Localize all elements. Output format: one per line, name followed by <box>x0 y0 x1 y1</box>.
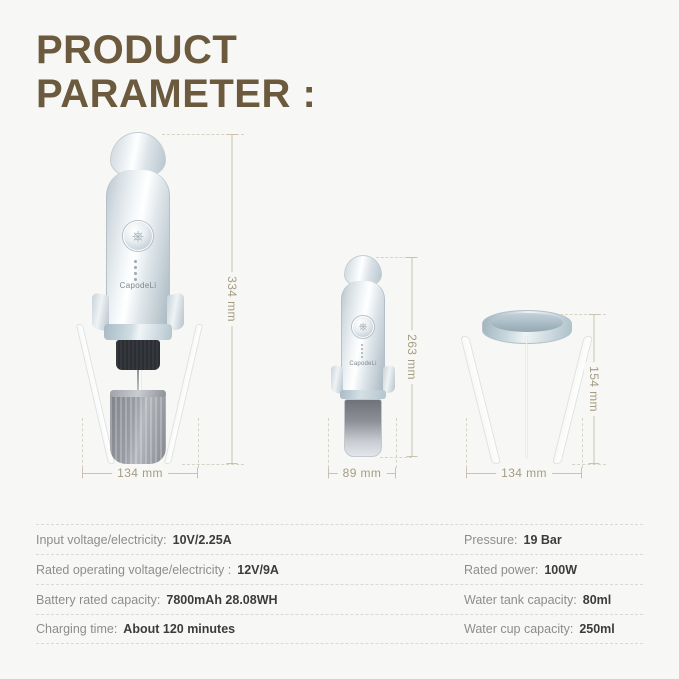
led-indicator-dots-compact <box>361 344 363 358</box>
spec-value: 100W <box>544 563 577 577</box>
page-title-line-2: PARAMETER : <box>36 72 536 116</box>
product-collar-compact <box>340 390 386 399</box>
spec-input-voltage: Input voltage/electricity: 10V/2.25A <box>36 533 464 547</box>
spec-label: Water cup capacity: <box>464 622 573 636</box>
extension-line-right-1 <box>198 418 199 468</box>
product-diagram-stage: ⎈ CapodeLi 334 mm 134 mm <box>0 118 679 498</box>
spec-label: Rated operating voltage/electricity : <box>36 563 231 577</box>
extension-line-left-1 <box>82 418 83 468</box>
stand-ring-inner <box>491 313 563 332</box>
product-collar <box>104 324 172 340</box>
table-row: Battery rated capacity: 7800mAh 28.08WH … <box>36 584 643 614</box>
dimension-height-334-label: 334 mm <box>222 272 242 326</box>
spec-charging-time: Charging time: About 120 minutes <box>36 622 464 636</box>
spec-label: Rated power: <box>464 563 538 577</box>
spec-rated-power: Rated power: 100W <box>464 563 643 577</box>
stand-leg-center-3 <box>525 336 528 458</box>
led-indicator-dots <box>134 260 137 281</box>
extension-line-right-2 <box>396 418 397 468</box>
extension-line-right-3 <box>582 418 583 468</box>
spec-value: 250ml <box>579 622 614 636</box>
dimension-width-134-a-label: 134 mm <box>112 466 168 480</box>
spec-value: 10V/2.25A <box>173 533 232 547</box>
table-row: Input voltage/electricity: 10V/2.25A Pre… <box>36 524 643 554</box>
extension-line-bottom-3 <box>572 464 606 465</box>
coffee-cup-rim <box>110 390 166 397</box>
spec-label: Charging time: <box>36 622 117 636</box>
dimension-width-89-label: 89 mm <box>338 466 387 480</box>
spec-label: Input voltage/electricity: <box>36 533 167 547</box>
power-icon: ⎈ <box>132 229 144 244</box>
spec-value: 80ml <box>583 593 612 607</box>
spec-value: 19 Bar <box>524 533 562 547</box>
extension-line-left-3 <box>466 418 467 468</box>
spec-value: About 120 minutes <box>123 622 235 636</box>
dimension-width-134-b-label: 134 mm <box>496 466 552 480</box>
power-button-compact[interactable]: ⎈ <box>352 316 374 338</box>
dimension-width-134-a: 134 mm <box>82 466 198 480</box>
dimension-height-154-label: 154 mm <box>584 362 604 416</box>
spec-label: Pressure: <box>464 533 518 547</box>
specification-table: Input voltage/electricity: 10V/2.25A Pre… <box>36 524 643 644</box>
dimension-width-134-b: 134 mm <box>466 466 582 480</box>
table-row: Charging time: About 120 minutes Water c… <box>36 614 643 644</box>
dimension-height-154: 154 mm <box>582 314 606 464</box>
page-title-line-1: PRODUCT <box>36 28 536 72</box>
spec-label: Water tank capacity: <box>464 593 577 607</box>
attached-cup-compact <box>344 399 382 457</box>
coffee-cup <box>110 390 166 464</box>
diagram-compact-folded: ⎈ CapodeLi 263 mm 89 mm <box>318 118 448 498</box>
portafilter <box>116 340 160 370</box>
spec-battery-capacity: Battery rated capacity: 7800mAh 28.08WH <box>36 593 464 607</box>
dimension-height-334: 334 mm <box>220 134 244 464</box>
dimension-width-89: 89 mm <box>328 466 396 480</box>
dimension-height-263: 263 mm <box>400 257 424 457</box>
diagram-assembled-with-cup: ⎈ CapodeLi 334 mm 134 mm <box>70 118 240 498</box>
extension-line-left-2 <box>328 418 329 468</box>
extension-line-bottom-1 <box>182 464 244 465</box>
diagram-tripod-stand: 154 mm 134 mm <box>460 118 630 498</box>
spec-value: 7800mAh 28.08WH <box>166 593 277 607</box>
page-title: PRODUCT PARAMETER : <box>36 28 536 116</box>
power-icon-compact: ⎈ <box>359 322 368 333</box>
brand-label: CapodeLi <box>106 281 170 290</box>
power-button[interactable]: ⎈ <box>123 221 153 251</box>
spec-water-tank-capacity: Water tank capacity: 80ml <box>464 593 643 607</box>
table-row: Rated operating voltage/electricity : 12… <box>36 554 643 584</box>
spec-rated-operating-voltage: Rated operating voltage/electricity : 12… <box>36 563 464 577</box>
spec-label: Battery rated capacity: <box>36 593 160 607</box>
dimension-height-263-label: 263 mm <box>402 330 422 384</box>
brand-label-compact: CapodeLi <box>341 361 385 367</box>
spec-water-cup-capacity: Water cup capacity: 250ml <box>464 622 643 636</box>
spec-value: 12V/9A <box>237 563 279 577</box>
spec-pressure: Pressure: 19 Bar <box>464 533 643 547</box>
